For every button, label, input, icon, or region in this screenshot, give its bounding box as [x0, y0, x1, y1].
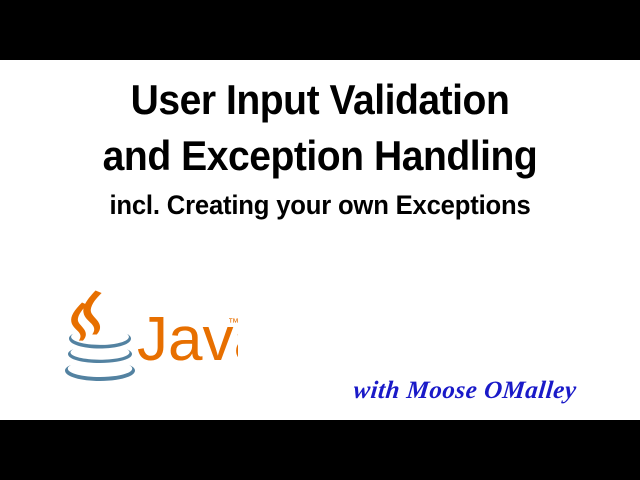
java-steam-icon [71, 291, 101, 341]
title-line-1: User Input Validation [22, 72, 617, 128]
title-block: User Input Validation and Exception Hand… [0, 72, 640, 184]
letterbox-bar-top [0, 0, 640, 60]
video-frame: User Input Validation and Exception Hand… [0, 0, 640, 480]
subtitle: incl. Creating your own Exceptions [16, 188, 624, 222]
svg-text:Java: Java [137, 305, 238, 374]
title-line-2: and Exception Handling [22, 128, 617, 184]
svg-text:™: ™ [228, 317, 238, 329]
java-cup-icon [65, 333, 135, 381]
java-wordmark: Java ™ [137, 305, 238, 374]
byline-author: with Moose OMalley [338, 376, 591, 406]
java-logo: Java ™ [38, 282, 238, 390]
letterbox-bar-bottom [0, 420, 640, 480]
slide-content-area: User Input Validation and Exception Hand… [0, 60, 640, 420]
